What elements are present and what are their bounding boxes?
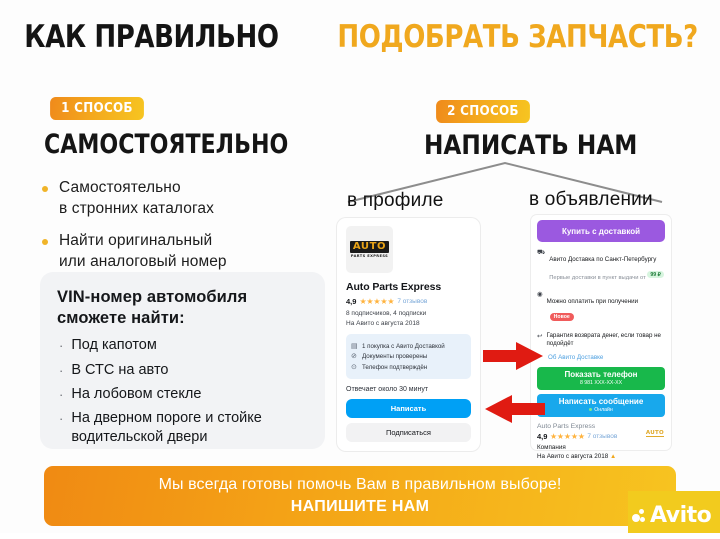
bullet-marker-icon: · (59, 387, 63, 404)
rating-value: 4,9 (346, 297, 356, 306)
subscribe-button[interactable]: Подписаться (346, 423, 471, 442)
bullet-text: Найти оригинальный или аналоговый номер (59, 231, 227, 272)
star-rating-icon: ★★★★★ (550, 432, 585, 441)
bullet-text: Самостоятельно в стронних каталогах (59, 178, 214, 219)
seller-name[interactable]: Auto Parts Express (537, 423, 665, 430)
bullet-marker-icon: · (59, 363, 63, 380)
avito-watermark: Avito (628, 491, 720, 539)
wallet-icon: ◉ (537, 291, 543, 299)
pointer-arrow-icon (483, 394, 545, 424)
subheading-advert: в объявлении (529, 189, 653, 211)
online-status-label: Онлайн (594, 407, 613, 413)
vin-location-text: Под капотом (71, 336, 157, 355)
trust-badge-label: 1 покупка с Авито Доставкой (362, 343, 445, 350)
trust-badge: ▤ 1 покупка с Авито Доставкой (351, 343, 466, 350)
seller-since-label: На Авито с августа 2018 (537, 453, 608, 460)
trust-badge: ⊙ Телефон подтверждён (351, 364, 466, 371)
page-title-gold: ПОДОБРАТЬ ЗАПЧАСТЬ? (337, 22, 698, 53)
cta-banner-line1: Мы всегда готовы помочь Вам в правильном… (159, 476, 562, 494)
delivery-price-text: Первые доставки в пункт выдачи от (549, 275, 647, 281)
list-item: · На дверном пороге и стойке водительско… (57, 409, 309, 447)
payment-info-row: ◉ Можно оплатить при полученииНовое (537, 290, 665, 326)
bullet-marker-icon: · (59, 411, 63, 428)
way-1-bullet-list: Самостоятельно в стронних каталогах Найт… (42, 178, 312, 284)
star-rating-icon: ★★★★★ (359, 297, 394, 306)
way-1-badge: 1 СПОСОБ (50, 97, 144, 120)
return-icon: ↩ (537, 333, 542, 341)
show-phone-label: Показать телефон (565, 370, 638, 379)
trust-badge-label: Документы проверены (362, 353, 427, 360)
poster-root: КАК ПРАВИЛЬНО ПОДОБРАТЬ ЗАПЧАСТЬ? 1 СПОС… (0, 0, 720, 539)
guarantee-info-row: ↩ Гарантия возврата денег, если товар не… (537, 332, 665, 349)
auto-logo-text: AUTO (350, 241, 389, 253)
box-icon: ▤ (351, 343, 358, 350)
vin-location-text: На лобовом стекле (71, 385, 201, 404)
delivery-city-text: Авито Доставка по Санкт-Петербургу (549, 256, 656, 263)
buy-with-delivery-button[interactable]: Купить с доставкой (537, 220, 665, 242)
bullet-dot-icon (42, 186, 48, 192)
online-status: Онлайн (589, 407, 613, 413)
avito-watermark-text: Avito (650, 503, 711, 528)
new-badge: Новое (550, 313, 574, 321)
seller-rating-value: 4,9 (537, 432, 547, 441)
cta-banner: Мы всегда готовы помочь Вам в правильном… (44, 466, 676, 526)
vin-card-heading: VIN-номер автомобиля сможете найти: (57, 287, 309, 329)
vin-location-list: · Под капотом · В СТС на авто · На лобов… (57, 336, 309, 447)
trust-badges-box: ▤ 1 покупка с Авито Доставкой ⊘ Документ… (346, 334, 471, 379)
list-item: · В СТС на авто (57, 361, 309, 380)
vin-location-text: На дверном пороге и стойке водительской … (71, 409, 309, 447)
seller-profile-card: AUTO PARTS EXPRESS Auto Parts Express 4,… (337, 218, 480, 451)
seller-since-badge-icon: ▲ (610, 453, 616, 460)
truck-icon: ⛟ (537, 249, 545, 257)
check-circle-icon: ⊘ (351, 353, 358, 360)
page-edge (0, 533, 720, 539)
auto-logo-subtext: PARTS EXPRESS (351, 254, 388, 258)
write-message-label: Написать сообщение (559, 397, 644, 406)
page-title-black: КАК ПРАВИЛЬНО (24, 22, 278, 53)
seller-since: На Авито с августа 2018 ▲ (537, 453, 665, 460)
check-circle-icon: ⊙ (351, 364, 358, 371)
avatar: AUTO PARTS EXPRESS (346, 226, 393, 273)
write-message-button[interactable]: Написать сообщение Онлайн (537, 394, 665, 417)
show-phone-button[interactable]: Показать телефон 8 981 XXX-XX-XX (537, 367, 665, 390)
advert-contact-card: Купить с доставкой ⛟ Авито Доставка по С… (531, 215, 671, 450)
seller-type: Компания (537, 444, 665, 451)
pointer-arrow-icon (483, 341, 545, 371)
trust-badge: ⊘ Документы проверены (351, 353, 466, 360)
delivery-price-pill: 99 ₽ (647, 271, 664, 278)
about-delivery-link[interactable]: Об Авито Доставке (548, 354, 665, 361)
page-title: КАК ПРАВИЛЬНО ПОДОБРАТЬ ЗАПЧАСТЬ? (0, 22, 720, 53)
vin-location-text: В СТС на авто (71, 361, 168, 380)
guarantee-text: Гарантия возврата денег, если товар не п… (546, 332, 665, 349)
bullet-dot-icon (42, 239, 48, 245)
bullet-marker-icon: · (59, 338, 63, 355)
cta-banner-line2: НАПИШИТЕ НАМ (291, 498, 429, 516)
payment-text: Можно оплатить при получении (547, 298, 638, 305)
delivery-info-row: ⛟ Авито Доставка по Санкт-Петербургу Пер… (537, 248, 665, 284)
seller-reviews-link[interactable]: 7 отзывов (587, 433, 617, 440)
way-2-heading: НАПИСАТЬ НАМ (424, 132, 637, 159)
vin-info-card: VIN-номер автомобиля сможете найти: · По… (40, 272, 325, 449)
member-since: На Авито с августа 2018 (346, 320, 471, 327)
online-dot-icon (589, 408, 592, 411)
trust-badge-label: Телефон подтверждён (362, 364, 427, 371)
phone-number: 8 981 XXX-XX-XX (580, 380, 622, 386)
subheading-profile: в профиле (347, 190, 444, 212)
followers-count: 8 подписчиков, 4 подписки (346, 310, 471, 317)
shop-name: Auto Parts Express (346, 281, 471, 293)
list-item: · Под капотом (57, 336, 309, 355)
answer-time: Отвечает около 30 минут (346, 386, 471, 393)
reviews-link[interactable]: 7 отзывов (397, 298, 427, 305)
auto-logo-small: AUTO (646, 430, 664, 437)
avito-dots-icon (632, 506, 648, 524)
write-button[interactable]: Написать (346, 399, 471, 418)
way-2-badge: 2 СПОСОБ (436, 100, 530, 123)
way-1-heading: САМОСТОЯТЕЛЬНО (44, 131, 288, 158)
list-item: Найти оригинальный или аналоговый номер (42, 231, 312, 272)
rating-row: 4,9 ★★★★★ 7 отзывов (346, 297, 471, 306)
list-item: Самостоятельно в стронних каталогах (42, 178, 312, 219)
list-item: · На лобовом стекле (57, 385, 309, 404)
